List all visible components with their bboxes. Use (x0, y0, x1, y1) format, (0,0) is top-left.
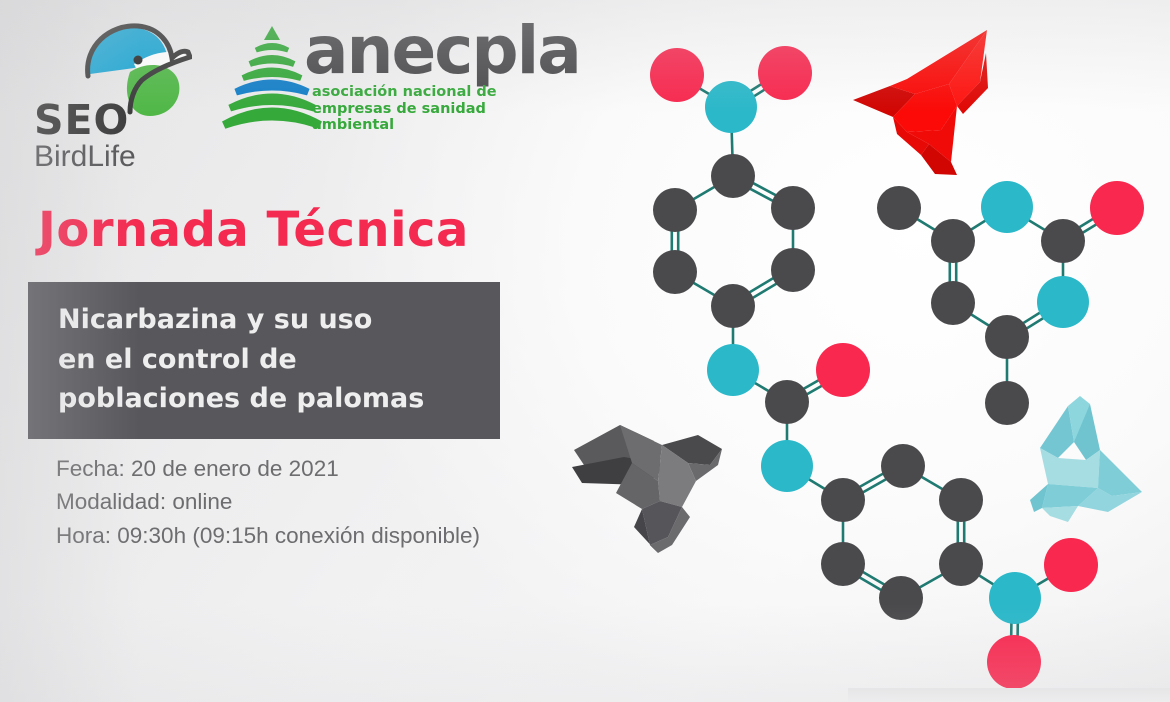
subtitle-banner: Nicarbazina y su uso en el control de po… (28, 282, 500, 439)
molecule-bonds (672, 70, 1119, 662)
atom-node-oxygen (987, 635, 1041, 689)
atom-node-carbon (879, 576, 923, 620)
subtitle-text: Nicarbazina y su uso en el control de po… (58, 300, 424, 419)
atom-node-carbon (653, 250, 697, 294)
atom-node-carbon (771, 248, 815, 292)
atom-node-nitrogen (761, 440, 813, 492)
detail-line-modality: Modalidad: online (56, 485, 480, 518)
atom-node-carbon (821, 478, 865, 522)
atom-node-carbon (877, 186, 921, 230)
seo-logo-line1: SEO (34, 100, 129, 141)
molecule-atoms (650, 46, 1144, 689)
atom-node-oxygen (816, 343, 870, 397)
anecpla-logo: anecpla asociación nacional de empresas … (222, 22, 582, 137)
logo-row: SEO BirdLife anecpla asociación nacional… (0, 0, 600, 190)
atom-node-carbon (985, 381, 1029, 425)
atom-node-nitrogen (1037, 276, 1089, 328)
origami-bird-gray-icon (572, 405, 740, 557)
atom-node-nitrogen (705, 81, 757, 133)
atom-node-carbon (931, 219, 975, 263)
atom-node-carbon (931, 281, 975, 325)
atom-node-carbon (765, 380, 809, 424)
atom-node-oxygen (1044, 538, 1098, 592)
atom-node-oxygen (650, 48, 704, 102)
anecpla-tagline: asociación nacional de empresas de sanid… (312, 84, 497, 134)
atom-node-carbon (1041, 219, 1085, 263)
origami-bird-red-icon (845, 22, 995, 187)
atom-node-nitrogen (981, 181, 1033, 233)
atom-node-carbon (881, 444, 925, 488)
seo-birdlife-logo: SEO BirdLife (32, 22, 192, 172)
seo-logo-line2: BirdLife (34, 142, 136, 172)
atom-node-oxygen (758, 46, 812, 100)
atom-node-carbon (939, 542, 983, 586)
atom-node-carbon (821, 542, 865, 586)
detail-line-date: Fecha: 20 de enero de 2021 (56, 452, 480, 485)
atom-node-carbon (711, 284, 755, 328)
atom-node-nitrogen (989, 572, 1041, 624)
atom-node-carbon (771, 186, 815, 230)
poster-canvas: SEO BirdLife anecpla asociación nacional… (0, 0, 1170, 702)
atom-node-carbon (711, 154, 755, 198)
page-title: Jornada Técnica (38, 206, 469, 254)
atom-node-oxygen (1090, 181, 1144, 235)
detail-line-time: Hora: 09:30h (09:15h conexión disponible… (56, 519, 480, 552)
origami-bird-lightblue-icon (1012, 392, 1157, 537)
event-details: Fecha: 20 de enero de 2021 Modalidad: on… (56, 452, 480, 552)
atom-node-carbon (939, 478, 983, 522)
atom-node-carbon (985, 315, 1029, 359)
anecpla-wordmark: anecpla (304, 18, 580, 84)
atom-node-carbon (653, 188, 697, 232)
atom-node-nitrogen (707, 344, 759, 396)
bottom-strip (848, 688, 1170, 702)
